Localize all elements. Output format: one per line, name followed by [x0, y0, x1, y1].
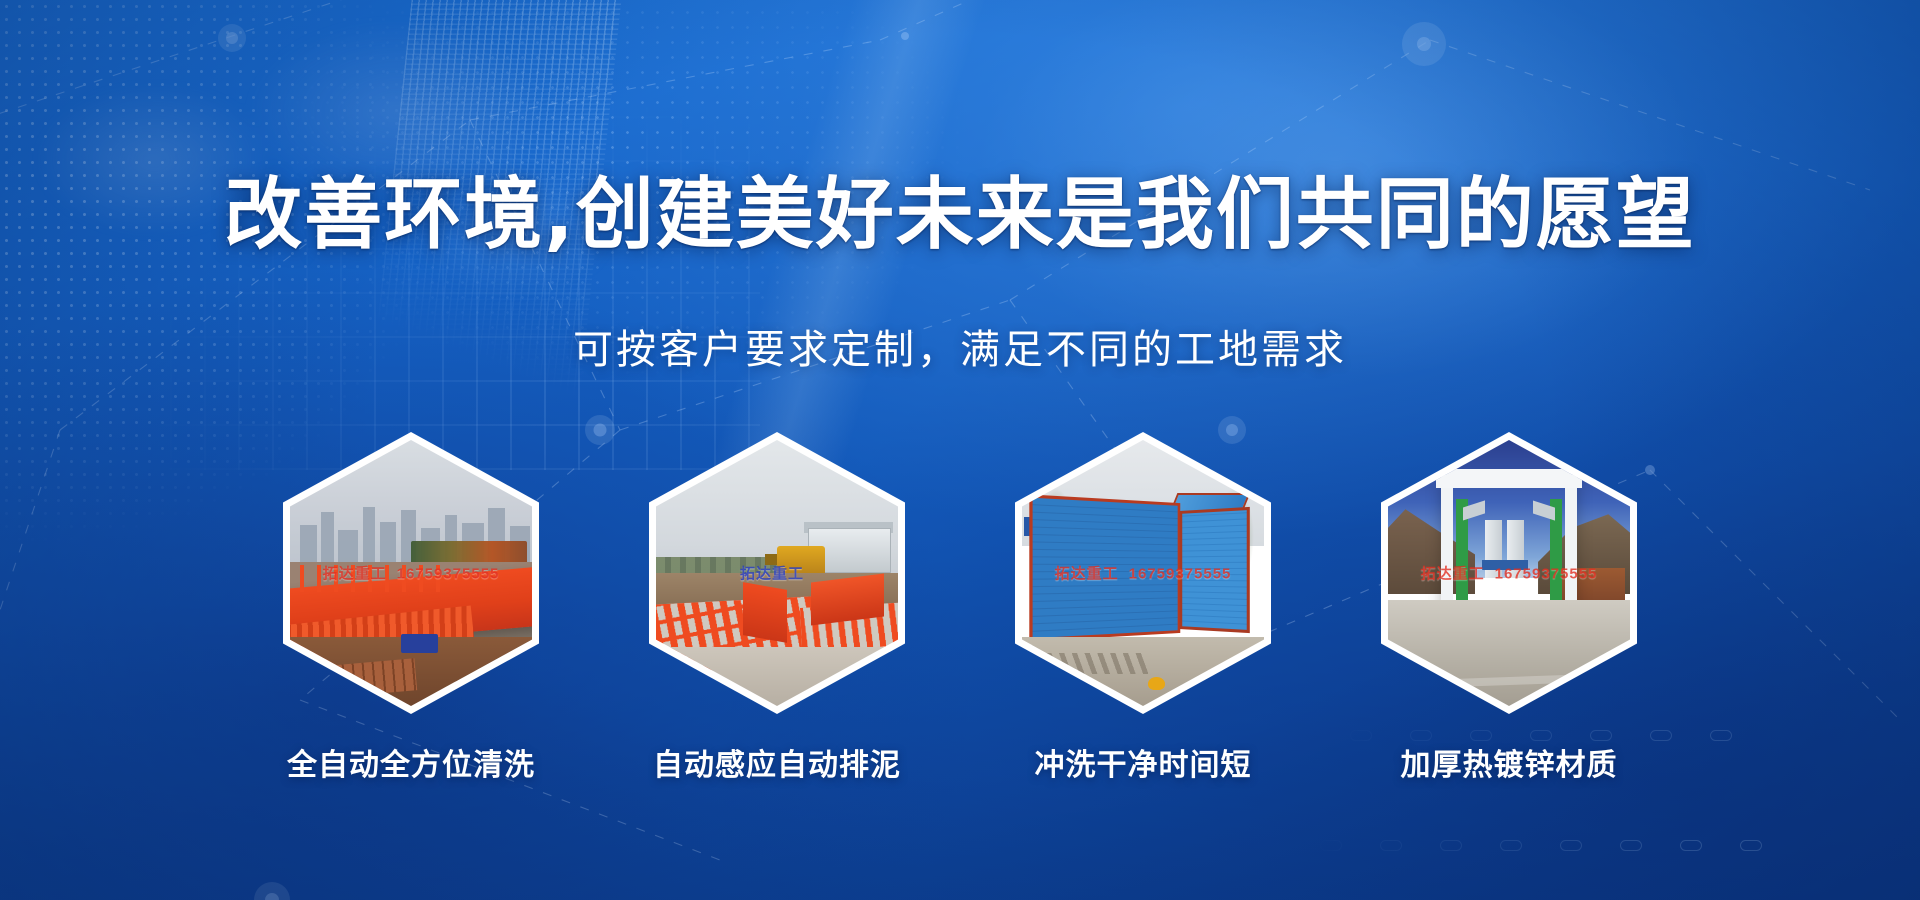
feature-photo — [1022, 440, 1264, 706]
banner-subheadline: 可按客户要求定制，满足不同的工地需求 — [0, 330, 1920, 370]
hexagon-photo-frame[interactable]: 拓达重工16759375555 — [283, 432, 539, 714]
feature-photo — [290, 440, 532, 706]
feature-card[interactable]: 拓达重工16759375555 自动感应自动排泥 — [649, 432, 905, 784]
feature-card-list: 拓达重工16759375555 全自动全方位清洗 — [0, 432, 1920, 784]
feature-caption: 自动感应自动排泥 — [653, 740, 901, 784]
hexagon-photo-frame[interactable]: 拓达重工16759375555 — [1015, 432, 1271, 714]
promo-banner: 改善环境,创建美好未来是我们共同的愿望 可按客户要求定制，满足不同的工地需求 — [0, 0, 1920, 900]
hexagon-photo-frame[interactable]: 拓达重工16759375555 — [649, 432, 905, 714]
feature-card[interactable]: 拓达重工16759375555 冲洗干净时间短 — [1015, 432, 1271, 784]
feature-caption: 冲洗干净时间短 — [1035, 740, 1252, 784]
feature-caption: 加厚热镀锌材质 — [1401, 740, 1618, 784]
hexagon-photo-frame[interactable]: 拓达重工16759375555 — [1381, 432, 1637, 714]
feature-card[interactable]: 拓达重工16759375555 加厚热镀锌材质 — [1381, 432, 1637, 784]
feature-caption: 全自动全方位清洗 — [287, 740, 535, 784]
banner-headline: 改善环境,创建美好未来是我们共同的愿望 — [0, 176, 1920, 254]
feature-card[interactable]: 拓达重工16759375555 全自动全方位清洗 — [283, 432, 539, 784]
feature-photo — [656, 440, 898, 706]
feature-photo — [1388, 440, 1630, 706]
